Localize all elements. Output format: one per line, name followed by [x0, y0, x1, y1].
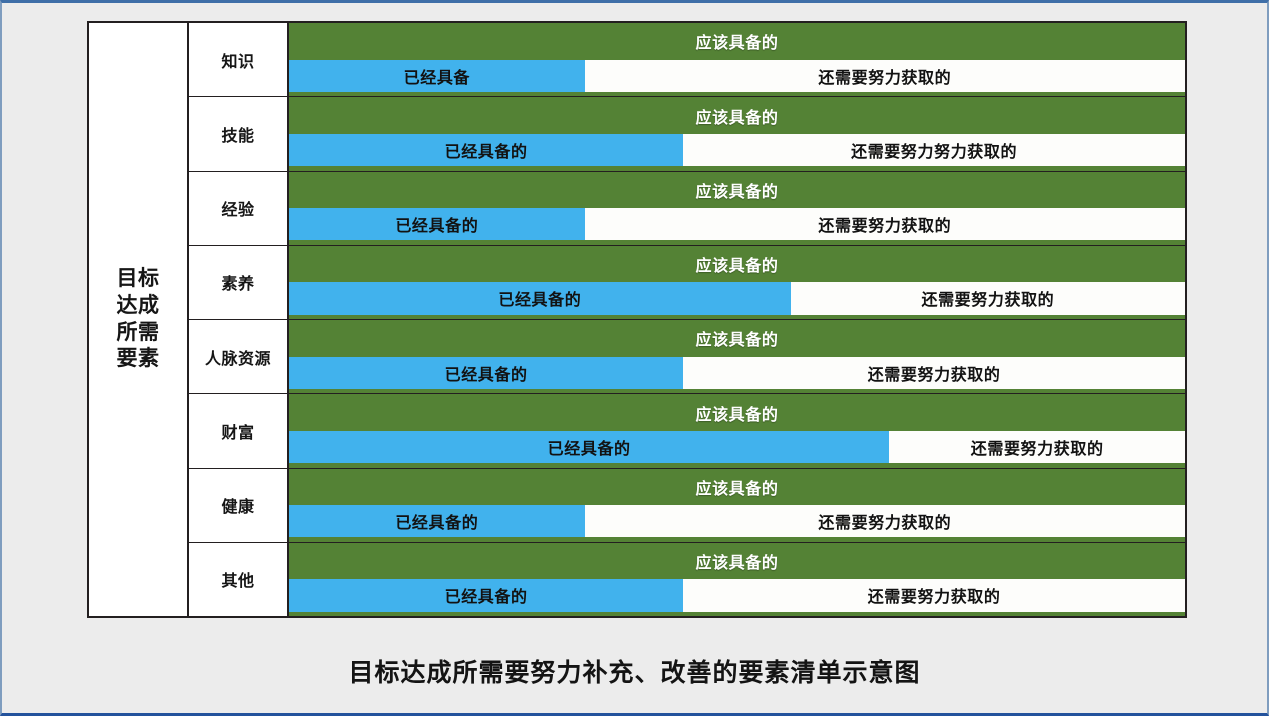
row-label: 其他 [221, 567, 254, 591]
table-row: 技能应该具备的已经具备的还需要努力努力获取的 [189, 97, 1185, 171]
target-bar: 应该具备的 [289, 97, 1185, 134]
table-row: 其他应该具备的已经具备的还需要努力获取的 [189, 543, 1185, 616]
row-label: 经验 [221, 196, 254, 220]
need-bar-label: 还需要努力获取的 [868, 361, 1001, 385]
row-bars: 应该具备的已经具备的还需要努力获取的 [289, 469, 1185, 542]
row-bars: 应该具备的已经具备的还需要努力努力获取的 [289, 97, 1185, 170]
need-bar-label: 还需要努力获取的 [971, 435, 1104, 459]
table-row: 健康应该具备的已经具备的还需要努力获取的 [189, 469, 1185, 543]
need-bar: 还需要努力获取的 [683, 579, 1185, 611]
need-bar: 还需要努力获取的 [791, 282, 1185, 314]
need-bar: 还需要努力获取的 [889, 431, 1185, 463]
target-bar-label: 应该具备的 [695, 326, 778, 350]
need-bar-label: 还需要努力获取的 [818, 64, 951, 88]
target-bar: 应该具备的 [289, 394, 1185, 431]
row-bars: 应该具备的已经具备的还需要努力获取的 [289, 543, 1185, 616]
row-bars: 应该具备的已经具备的还需要努力获取的 [289, 320, 1185, 393]
need-bar-label: 还需要努力获取的 [818, 509, 951, 533]
target-bar: 应该具备的 [289, 469, 1185, 506]
target-bar-label: 应该具备的 [695, 29, 778, 53]
have-bar-label: 已经具备的 [445, 138, 528, 162]
row-label: 财富 [221, 419, 254, 443]
row-label-cell: 知识 [189, 23, 289, 96]
row-bars: 应该具备的已经具备还需要努力获取的 [289, 23, 1185, 96]
need-bar: 还需要努力获取的 [585, 60, 1185, 92]
elements-table: 目标 达成 所需 要素 知识应该具备的已经具备还需要努力获取的技能应该具备的已经… [87, 21, 1187, 618]
slide-canvas: 目标 达成 所需 要素 知识应该具备的已经具备还需要努力获取的技能应该具备的已经… [0, 0, 1269, 716]
need-bar: 还需要努力获取的 [683, 357, 1185, 389]
caption: 目标达成所需要努力补充、改善的要素清单示意图 [2, 653, 1267, 689]
need-bar-label: 还需要努力努力获取的 [851, 138, 1017, 162]
have-bar-label: 已经具备的 [395, 509, 478, 533]
target-bar-label: 应该具备的 [695, 401, 778, 425]
caption-text: 目标达成所需要努力补充、改善的要素清单示意图 [348, 659, 920, 687]
target-bar-label: 应该具备的 [695, 252, 778, 276]
row-header-label: 目标 达成 所需 要素 [117, 266, 160, 374]
progress-track: 已经具备的还需要努力获取的 [289, 357, 1185, 389]
have-bar-label: 已经具备的 [445, 361, 528, 385]
row-label: 技能 [221, 122, 254, 146]
row-label-cell: 人脉资源 [189, 320, 289, 393]
table-rows-area: 知识应该具备的已经具备还需要努力获取的技能应该具备的已经具备的还需要努力努力获取… [189, 23, 1185, 616]
target-bar: 应该具备的 [289, 246, 1185, 283]
row-label: 素养 [221, 270, 254, 294]
table-row: 素养应该具备的已经具备的还需要努力获取的 [189, 246, 1185, 320]
have-bar: 已经具备的 [289, 357, 683, 389]
progress-track: 已经具备的还需要努力获取的 [289, 579, 1185, 611]
need-bar: 还需要努力努力获取的 [683, 134, 1185, 166]
have-bar: 已经具备的 [289, 208, 585, 240]
table-row: 知识应该具备的已经具备还需要努力获取的 [189, 23, 1185, 97]
need-bar: 还需要努力获取的 [585, 208, 1185, 240]
target-bar-label: 应该具备的 [695, 475, 778, 499]
row-label-cell: 财富 [189, 394, 289, 467]
table-row: 经验应该具备的已经具备的还需要努力获取的 [189, 172, 1185, 246]
row-label-cell: 健康 [189, 469, 289, 542]
have-bar-label: 已经具备的 [445, 583, 528, 607]
row-label: 健康 [221, 493, 254, 517]
progress-track: 已经具备还需要努力获取的 [289, 60, 1185, 92]
progress-track: 已经具备的还需要努力获取的 [289, 505, 1185, 537]
target-bar: 应该具备的 [289, 543, 1185, 580]
have-bar: 已经具备的 [289, 505, 585, 537]
row-label: 人脉资源 [205, 345, 271, 369]
row-label-cell: 技能 [189, 97, 289, 170]
have-bar: 已经具备 [289, 60, 585, 92]
need-bar: 还需要努力获取的 [585, 505, 1185, 537]
have-bar: 已经具备的 [289, 579, 683, 611]
target-bar: 应该具备的 [289, 172, 1185, 209]
row-bars: 应该具备的已经具备的还需要努力获取的 [289, 172, 1185, 245]
table-row: 财富应该具备的已经具备的还需要努力获取的 [189, 394, 1185, 468]
progress-track: 已经具备的还需要努力获取的 [289, 208, 1185, 240]
progress-track: 已经具备的还需要努力努力获取的 [289, 134, 1185, 166]
row-bars: 应该具备的已经具备的还需要努力获取的 [289, 246, 1185, 319]
progress-track: 已经具备的还需要努力获取的 [289, 282, 1185, 314]
row-label: 知识 [221, 48, 254, 72]
need-bar-label: 还需要努力获取的 [921, 286, 1054, 310]
row-label-cell: 经验 [189, 172, 289, 245]
have-bar-label: 已经具备的 [498, 286, 581, 310]
target-bar-label: 应该具备的 [695, 549, 778, 573]
have-bar-label: 已经具备的 [395, 212, 478, 236]
target-bar: 应该具备的 [289, 23, 1185, 60]
target-bar: 应该具备的 [289, 320, 1185, 357]
row-bars: 应该具备的已经具备的还需要努力获取的 [289, 394, 1185, 467]
table-row-header-cell: 目标 达成 所需 要素 [89, 23, 189, 616]
have-bar: 已经具备的 [289, 134, 683, 166]
row-label-cell: 素养 [189, 246, 289, 319]
have-bar-label: 已经具备 [404, 64, 470, 88]
row-label-cell: 其他 [189, 543, 289, 616]
progress-track: 已经具备的还需要努力获取的 [289, 431, 1185, 463]
have-bar: 已经具备的 [289, 431, 889, 463]
need-bar-label: 还需要努力获取的 [818, 212, 951, 236]
have-bar: 已经具备的 [289, 282, 791, 314]
target-bar-label: 应该具备的 [695, 104, 778, 128]
have-bar-label: 已经具备的 [548, 435, 631, 459]
need-bar-label: 还需要努力获取的 [868, 583, 1001, 607]
table-row: 人脉资源应该具备的已经具备的还需要努力获取的 [189, 320, 1185, 394]
target-bar-label: 应该具备的 [695, 178, 778, 202]
